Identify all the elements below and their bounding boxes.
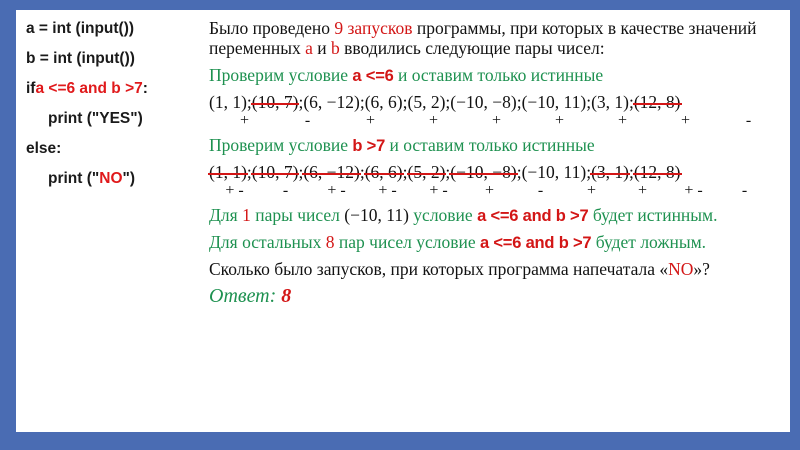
number-pair: (−10, −8) [450,162,516,183]
conc-false-middle: пар чисел условие [335,232,480,252]
code-line-5-part-0: print (" [48,171,99,187]
number-pair: (1, 1) [209,92,247,113]
sign-marker: - [719,183,770,199]
code-line-0-part-0: a = int (input()) [26,21,134,37]
number-pair: (6, 6) [365,162,403,183]
sign-marker: + - [311,183,362,199]
intro-and: и [313,38,331,58]
explanation-column: Было проведено 9 запусков программы, при… [209,12,800,308]
sign-marker: + [654,113,717,129]
code-line-2-part-0: if [26,81,35,97]
check-b-line: Проверим условие b >7 и оставим только и… [209,135,800,156]
number-pair: (12, 8) [634,92,681,113]
conc-true-pair: (−10, 11) [344,205,409,225]
var-b-label: b [331,38,340,58]
sign-marker: + [213,113,276,129]
number-pair: (5, 2) [408,162,446,183]
question-highlight: NO [668,259,693,279]
intro-paragraph: Было проведено 9 запусков программы, при… [209,12,800,59]
sign-marker: + - [668,183,719,199]
check-a-prefix: Проверим условие [209,65,352,85]
check-b-prefix: Проверим условие [209,135,352,155]
number-pair: (10, 7) [252,162,299,183]
number-pair: (1, 1) [209,162,247,183]
code-line-5: print ("NO") [26,164,201,194]
code-line-3-part-0: print ("YES") [48,111,143,127]
conc-true-condition: a <=6 and b >7 [477,207,588,225]
code-line-0: a = int (input()) [26,14,201,44]
conc-true-middle: пары чисел [251,205,344,225]
answer-line: Ответ: 8 [209,285,800,308]
number-pair: (3, 1) [591,92,629,113]
sign-marker: - [515,183,566,199]
code-line-1: b = int (input()) [26,44,201,74]
sign-marker: + [528,113,591,129]
check-a-suffix: и оставим только истинные [394,65,604,85]
sign-marker: + [465,113,528,129]
code-line-4-part-0: else: [26,141,61,157]
sign-marker: + [464,183,515,199]
sign-marker: + [339,113,402,129]
code-line-4: else: [26,134,201,164]
condition-b: b >7 [352,137,385,155]
conclusion-true-line: Для 1 пары чисел (−10, 11) условие a <=6… [209,205,800,226]
condition-a: a <=6 [352,67,393,85]
number-pair: (10, 7) [252,92,299,113]
code-line-5-part-2: ") [123,171,136,187]
number-pair: (6, −12) [303,92,360,113]
number-pair: (6, −12) [303,162,360,183]
code-line-3: print ("YES") [26,104,201,134]
question-line: Сколько было запусков, при которых прогр… [209,259,800,279]
code-line-1-part-0: b = int (input()) [26,51,135,67]
sign-marker: + [566,183,617,199]
number-pair: (6, 6) [365,92,403,113]
conc-false-suffix: будет ложным. [591,232,706,252]
conc-true-middle2: условие [409,205,477,225]
conc-false-count: 8 [326,232,335,252]
signs-row-b: + --+ -+ -+ -+-+++ -- [209,183,800,199]
number-pair: (−10, −8) [450,92,516,113]
sign-marker: + [591,113,654,129]
number-pair: (12, 8) [634,162,681,183]
conc-true-prefix: Для [209,205,242,225]
conc-false-condition: a <=6 and b >7 [480,234,591,252]
sign-marker: + - [362,183,413,199]
sign-marker: + [617,183,668,199]
pairs-row-b: (1, 1); (10, 7); (6, −12); (6, 6); (5, 2… [209,162,800,183]
answer-label: Ответ: [209,285,281,307]
slide-content-area: a = int (input())b = int (input())if a <… [16,10,790,432]
conc-true-suffix: будет истинным. [588,205,717,225]
number-pair: (5, 2) [408,92,446,113]
sign-marker: - [717,113,780,129]
code-line-2-part-1: a <=6 and b >7 [35,81,142,97]
check-a-line: Проверим условие a <=6 и оставим только … [209,65,800,86]
number-pair: (−10, 11) [522,92,587,113]
conclusion-false-line: Для остальных 8 пар чисел условие a <=6 … [209,232,800,253]
sign-marker: + - [413,183,464,199]
sign-marker: - [276,113,339,129]
signs-row-a: +-++++++- [209,113,800,129]
sign-marker: + - [209,183,260,199]
intro-before: Было проведено [209,18,334,38]
slide-frame: a = int (input())b = int (input())if a <… [0,0,800,450]
code-panel: a = int (input())b = int (input())if a <… [26,14,201,194]
question-before: Сколько было запусков, при которых прогр… [209,259,668,279]
code-line-5-part-1: NO [99,171,122,187]
number-pair: (−10, 11) [522,162,587,183]
var-a-label: a [305,38,313,58]
intro-tail: вводились следующие пары чисел: [340,38,605,58]
code-line-2: if a <=6 and b >7: [26,74,201,104]
answer-value: 8 [281,285,291,307]
conc-false-prefix: Для остальных [209,232,326,252]
code-line-2-part-2: : [143,81,148,97]
question-after: »? [693,259,710,279]
number-pair: (3, 1) [591,162,629,183]
conc-true-count: 1 [242,205,251,225]
sign-marker: - [260,183,311,199]
check-b-suffix: и оставим только истинные [385,135,595,155]
sign-marker: + [402,113,465,129]
pairs-row-a: (1, 1); (10, 7); (6, −12); (6, 6); (5, 2… [209,92,800,113]
run-count: 9 запусков [334,18,412,38]
